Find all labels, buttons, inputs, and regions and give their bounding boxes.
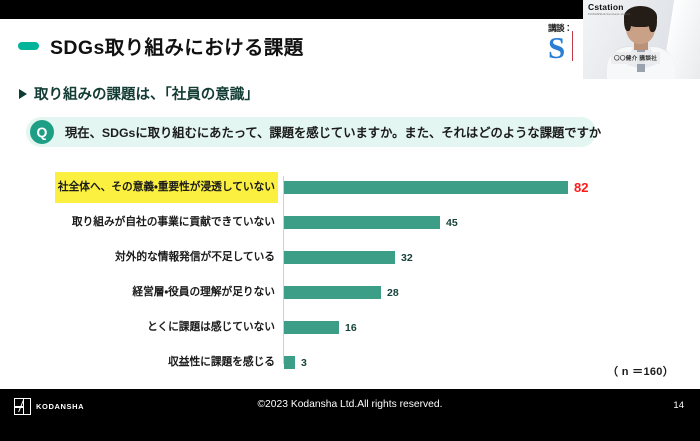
chart-bar xyxy=(284,286,381,299)
chart-bar xyxy=(284,356,295,369)
lead-statement-row: 取り組みの課題は、「社員の意識」 xyxy=(19,83,259,104)
chart-category-label: 社全体へ、その意義・重要性が浸透していない xyxy=(55,172,278,203)
chart-bar-wrap: 28 xyxy=(284,277,399,308)
cstation-logo: Cstation KODANSHA business station xyxy=(588,3,631,16)
speaker-initial: S xyxy=(548,32,565,63)
presentation-slide: SDGs取り組みにおける課題 取り組みの課題は、「社員の意識」 Q 現在、SDG… xyxy=(0,0,700,441)
chart-category-label: 対外的な情報発信が不足している xyxy=(112,242,278,273)
chart-bar xyxy=(284,181,568,194)
horizontal-bar-chart: 社全体へ、その意義・重要性が浸透していない 82 取り組みが自社の事業に貢献でき… xyxy=(0,172,700,372)
chart-bar-wrap: 32 xyxy=(284,242,413,273)
video-call-overlay[interactable]: Cstation KODANSHA business station 〇〇健介 … xyxy=(583,0,700,79)
speaker-divider xyxy=(572,31,573,61)
question-band: Q 現在、SDGsに取り組むにあたって、課題を感じていますか。また、それはどのよ… xyxy=(26,117,596,147)
page-number: 14 xyxy=(673,400,684,411)
question-text: 現在、SDGsに取り組むにあたって、課題を感じていますか。また、それはどのような… xyxy=(65,123,601,141)
chart-bar xyxy=(284,251,395,264)
cstation-logo-rest: station xyxy=(594,2,623,12)
speaker-hair-right xyxy=(649,12,657,32)
footer-inner: KODANSHA ©2023 Kodansha Ltd.All rights r… xyxy=(0,397,700,419)
slide-footer: KODANSHA ©2023 Kodansha Ltd.All rights r… xyxy=(0,389,700,441)
chart-bar-wrap: 45 xyxy=(284,207,458,238)
chart-bar-value: 16 xyxy=(345,322,357,334)
chart-bar-wrap: 16 xyxy=(284,312,357,343)
chart-row: 取り組みが自社の事業に貢献できていない 45 xyxy=(0,207,700,238)
question-badge-icon: Q xyxy=(30,120,54,144)
chart-bar-value: 82 xyxy=(574,180,588,195)
chart-row: 経営層・役員の理解が足りない 28 xyxy=(0,277,700,308)
cstation-logo-subtitle: KODANSHA business station xyxy=(588,13,631,16)
chart-row: とくに課題は感じていない 16 xyxy=(0,312,700,343)
triangle-right-icon xyxy=(19,89,27,99)
chart-bar-value: 3 xyxy=(301,357,307,369)
chart-row: 収益性に課題を感じる 3 xyxy=(0,347,700,378)
lead-statement: 取り組みの課題は、「社員の意識」 xyxy=(34,83,259,104)
slide-title-row: SDGs取り組みにおける課題 xyxy=(18,31,304,60)
sample-size-note: （ n ＝160） xyxy=(607,363,674,379)
chart-category-label: 収益性に課題を感じる xyxy=(165,347,278,378)
chart-row: 対外的な情報発信が不足している 32 xyxy=(0,242,700,273)
title-dash-icon xyxy=(18,42,39,50)
chart-bar-value: 32 xyxy=(401,252,413,264)
chart-bar-wrap: 82 xyxy=(284,172,588,203)
page-title: SDGs取り組みにおける課題 xyxy=(50,31,304,60)
speaker-name-panel: 講談： S xyxy=(547,19,583,79)
chart-bar-value: 45 xyxy=(446,217,458,229)
chart-bar xyxy=(284,321,339,334)
chart-bar-wrap: 3 xyxy=(284,347,307,378)
copyright-text: ©2023 Kodansha Ltd.All rights reserved. xyxy=(0,399,700,410)
chart-bar-value: 28 xyxy=(387,287,399,299)
speaker-name-badge: 〇〇健介 講談社 xyxy=(611,52,660,64)
chart-bar xyxy=(284,216,440,229)
chart-category-label: 経営層・役員の理解が足りない xyxy=(129,277,278,308)
chart-category-label: とくに課題は感じていない xyxy=(144,312,278,343)
chart-category-label: 取り組みが自社の事業に貢献できていない xyxy=(69,207,278,238)
chart-row: 社全体へ、その意義・重要性が浸透していない 82 xyxy=(0,172,700,203)
cstation-logo-text: Cstation xyxy=(588,3,631,12)
